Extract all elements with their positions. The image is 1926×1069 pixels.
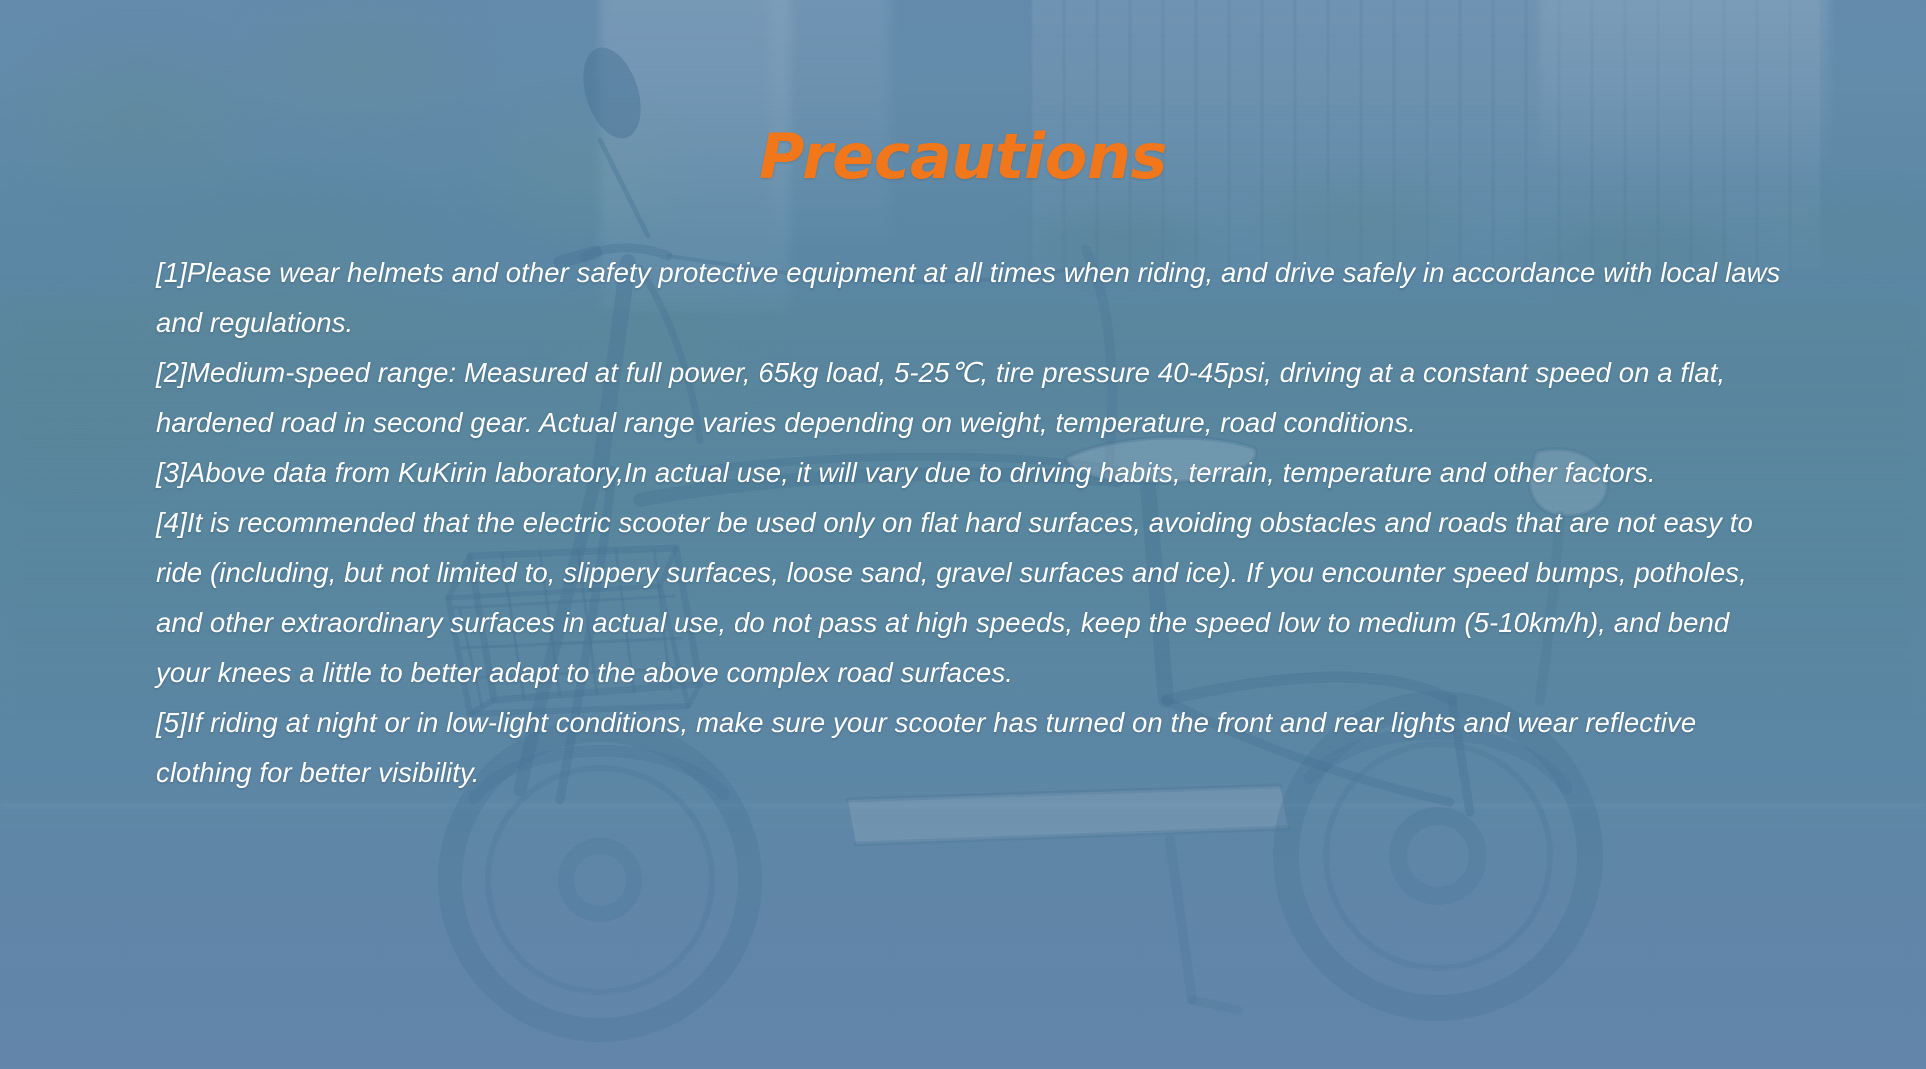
- precaution-item: [5]If riding at night or in low-light co…: [156, 698, 1784, 798]
- slide-root: Precautions [1]Please wear helmets and o…: [0, 0, 1926, 1069]
- precautions-list: [1]Please wear helmets and other safety …: [156, 248, 1784, 798]
- precaution-item: [1]Please wear helmets and other safety …: [156, 248, 1784, 348]
- precaution-item: [3]Above data from KuKirin laboratory,In…: [156, 448, 1784, 498]
- precaution-item: [2]Medium-speed range: Measured at full …: [156, 348, 1784, 448]
- slide-content: Precautions [1]Please wear helmets and o…: [0, 0, 1926, 1069]
- page-title: Precautions: [0, 120, 1926, 193]
- precaution-item: [4]It is recommended that the electric s…: [156, 498, 1784, 698]
